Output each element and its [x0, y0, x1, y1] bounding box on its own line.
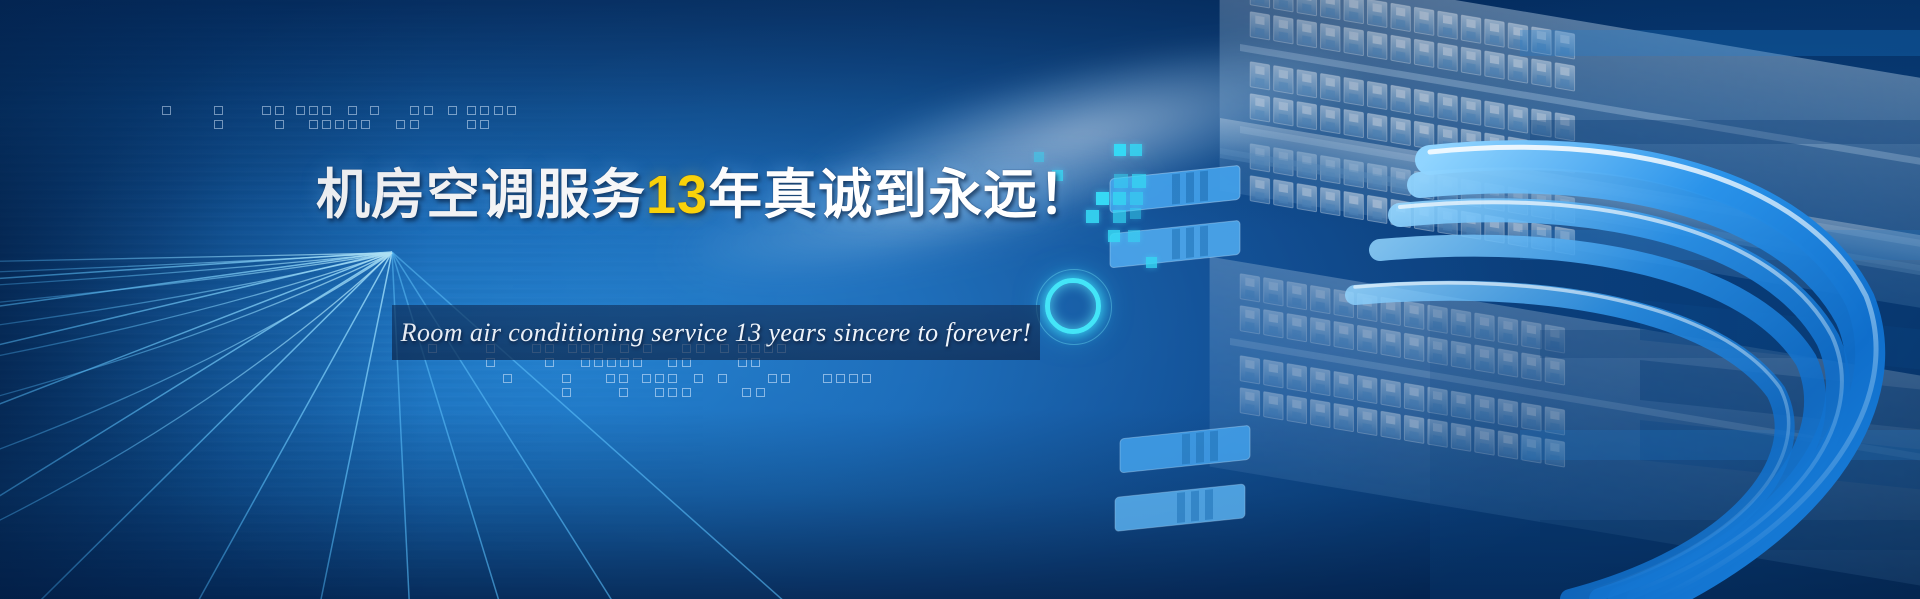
square-dot-pattern-top	[162, 104, 562, 134]
headline-part-2: 年真诚到永远！	[708, 165, 1093, 225]
headline-part-1: 机房空调服务	[316, 165, 646, 225]
page-title: 机房空调服务13年真诚到永远！	[316, 168, 1093, 222]
subtitle-text: Room air conditioning service 13 years s…	[401, 318, 1032, 348]
network-cable-icon	[1100, 0, 1920, 599]
neon-ring-icon	[1045, 278, 1101, 334]
subtitle-panel: Room air conditioning service 13 years s…	[392, 305, 1040, 360]
headline-years-number: 13	[646, 165, 708, 225]
hero-banner: 机房空调服务13年真诚到永远！ Room air conditioning se…	[0, 0, 1920, 599]
pixel-cluster-icon	[1086, 142, 1236, 272]
